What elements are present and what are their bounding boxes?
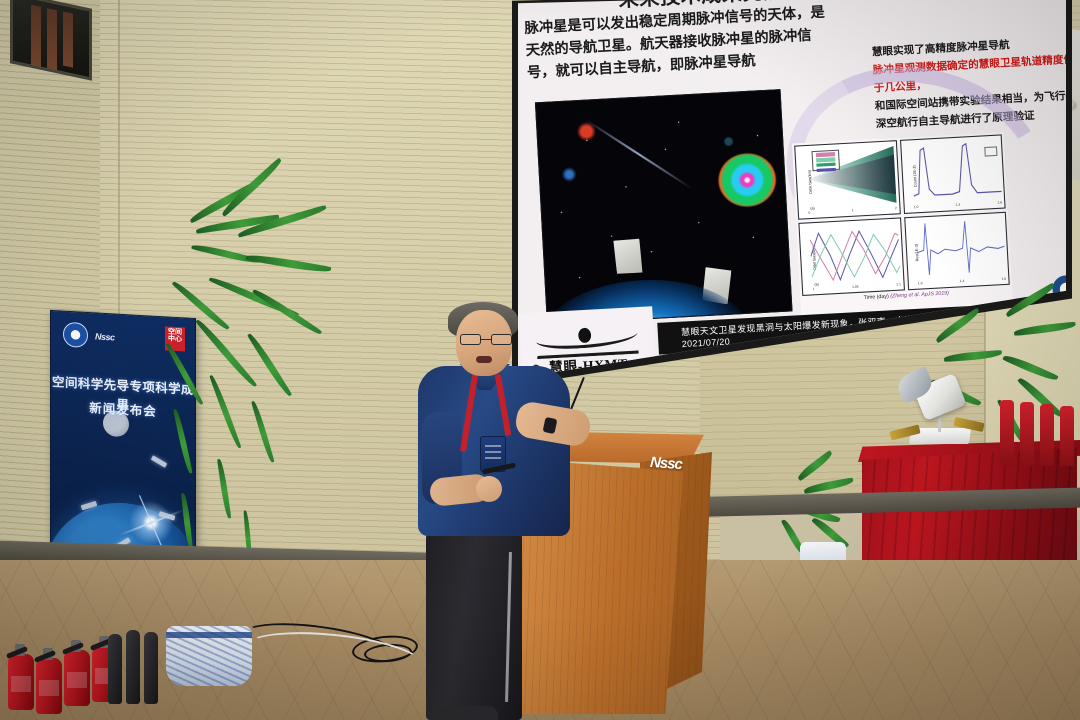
fire-extinguisher <box>1040 404 1054 466</box>
chart-series-lines <box>809 220 901 287</box>
speaker-person <box>404 300 594 720</box>
chart-legend <box>811 150 840 172</box>
speaker-left-hand <box>476 476 502 502</box>
podium-logo-text: Nssc <box>649 454 682 473</box>
fire-extinguisher <box>1060 406 1074 466</box>
chart-orbit-bias-divergence: Orbit bias(km) (a) <box>794 140 900 219</box>
nssc-logo-text: Nssc <box>95 331 115 342</box>
gas-cylinder <box>144 632 158 704</box>
plant-pot-porcelain-front <box>166 626 252 686</box>
fire-extinguisher <box>36 658 62 714</box>
chart-pulse-profile: Count (1E-3) 1.01.41.6 <box>899 134 1005 213</box>
slide-space-photo <box>535 89 793 325</box>
conference-scene: 未来技术成果亮点—X射线脉冲星导航 脉冲星是可以发出稳定周期脉冲信号的天体，是天… <box>0 0 1080 720</box>
speaker-legs <box>426 528 522 720</box>
chart-orbit-bias-oscillation: Orbit bias(km) (b) 11.051.1 <box>798 217 904 296</box>
gas-cylinder <box>126 630 140 704</box>
cas-logo-icon <box>63 322 88 348</box>
slide-charts: Orbit bias(km) (a) <box>792 132 1013 317</box>
glasses-icon <box>460 334 512 345</box>
slide-body-left: 脉冲星是可以发出稳定周期脉冲信号的天体，是天然的导航卫星。航天器接收脉冲星的脉冲… <box>524 1 835 84</box>
speaker-mouth <box>476 356 492 363</box>
chart-residual: Res(1E-3) 1.01.41.6 <box>904 211 1010 290</box>
fire-extinguisher <box>1020 402 1034 466</box>
window-blind <box>47 8 57 70</box>
chart-series-residual <box>914 215 1006 282</box>
window-blind <box>31 5 41 67</box>
fire-extinguisher <box>64 650 90 706</box>
window-blind <box>63 12 73 68</box>
gas-cylinder <box>108 634 122 704</box>
fire-extinguisher <box>8 654 34 710</box>
speaker-shoe <box>432 706 498 720</box>
fire-extinguisher <box>1000 400 1014 466</box>
